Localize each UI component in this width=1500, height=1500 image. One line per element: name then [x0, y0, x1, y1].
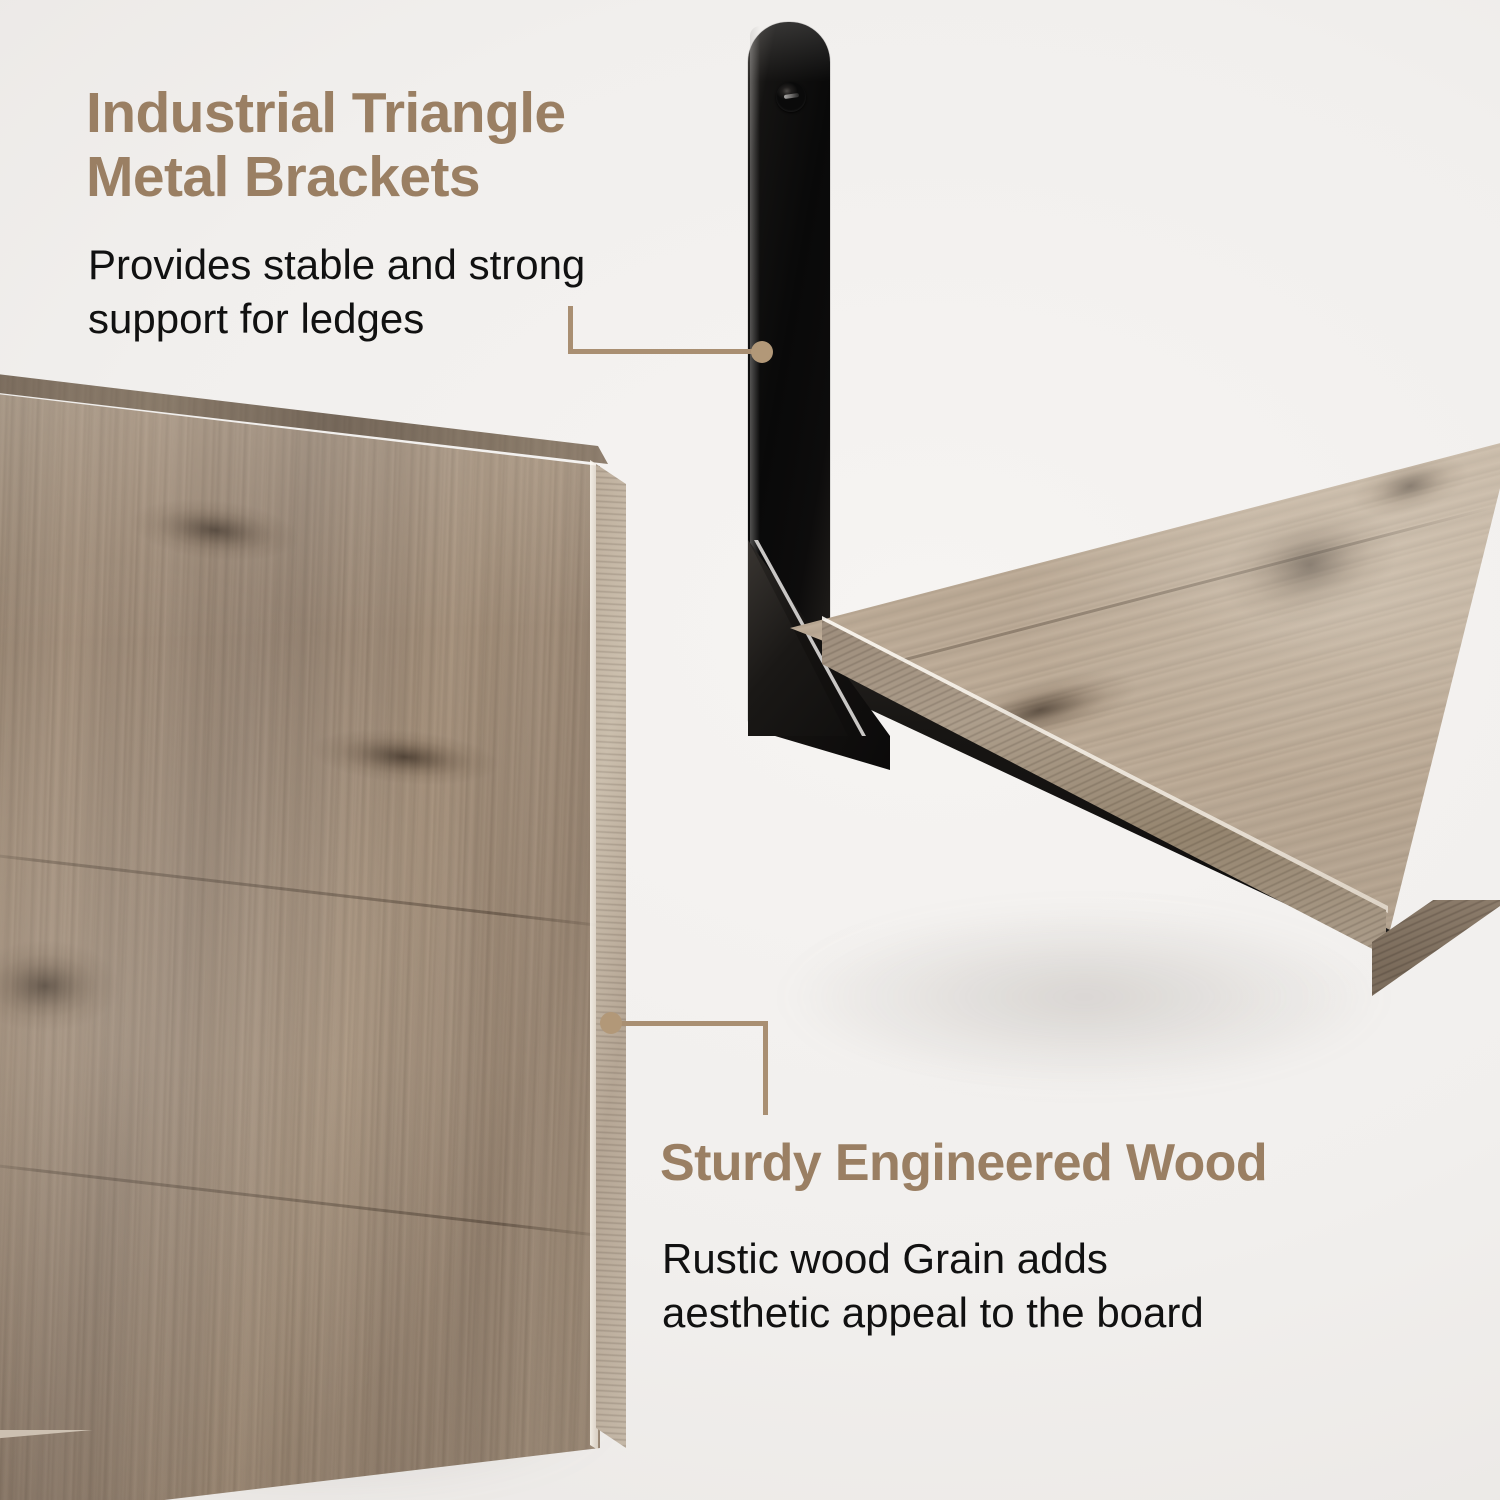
leader-line-vertical	[568, 306, 573, 354]
screw-slot	[784, 93, 799, 99]
screw-icon	[776, 82, 806, 112]
leader-line-vertical	[763, 1021, 768, 1115]
left-board-face	[0, 370, 620, 1500]
leader-line-horizontal	[616, 1021, 768, 1026]
callout-engineered-wood-title: Sturdy Engineered Wood	[660, 1134, 1480, 1192]
product-feature-image: Industrial Triangle Metal Brackets Provi…	[0, 0, 1500, 1500]
callout-engineered-wood-body: Rustic wood Grain adds aesthetic appeal …	[662, 1232, 1462, 1340]
board-lighting	[0, 370, 620, 1500]
leader-dot-wood-board	[600, 1012, 622, 1034]
callout-metal-brackets-title: Industrial Triangle Metal Brackets	[86, 82, 746, 210]
leader-dot-bracket	[751, 341, 773, 363]
callout-metal-brackets-body: Provides stable and strong support for l…	[88, 238, 748, 346]
leader-line-horizontal	[568, 349, 764, 354]
